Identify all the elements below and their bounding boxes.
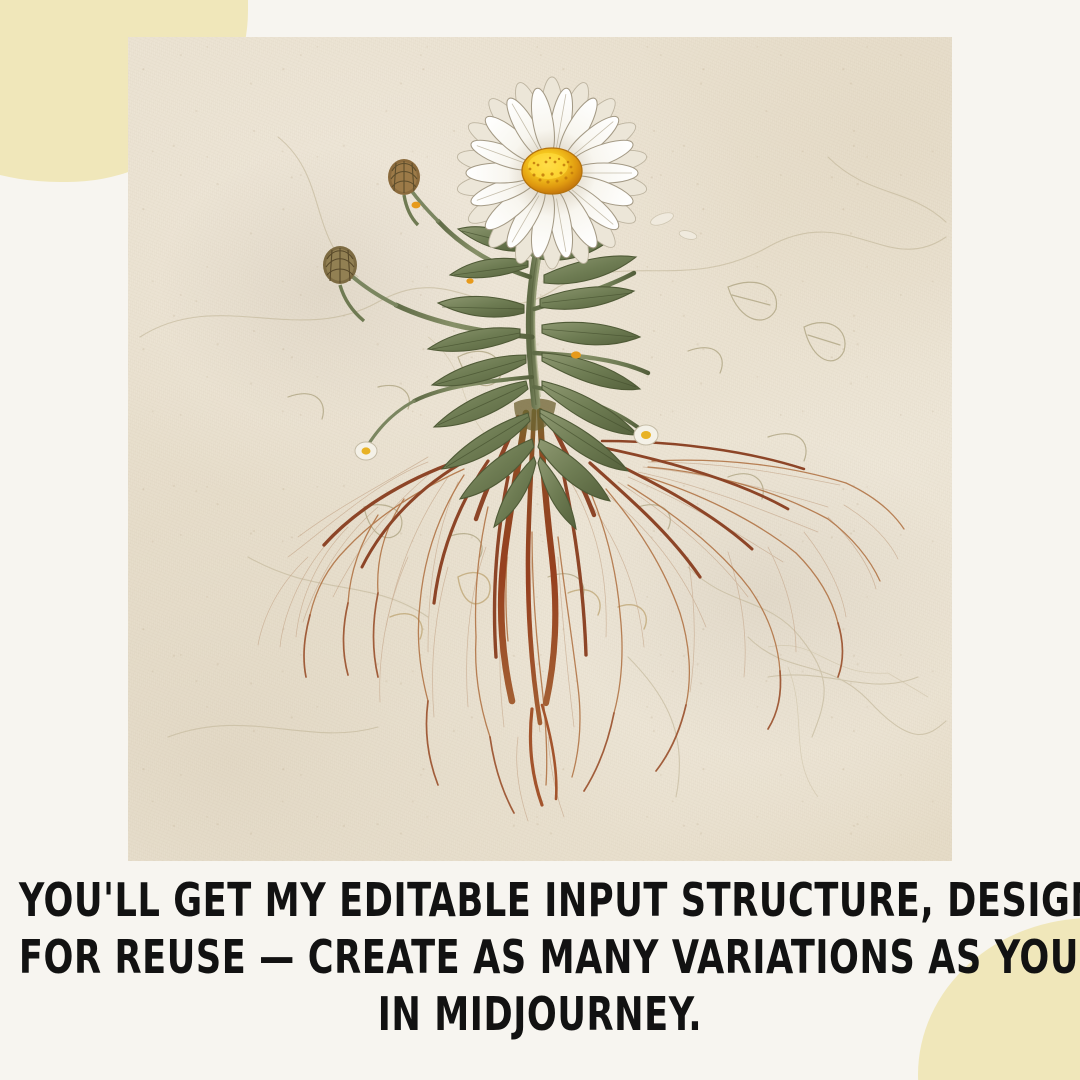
caption-line-1: You'll get my editable input structure, … [19, 868, 1061, 933]
caption-line-2: for reuse — create as many variations as… [19, 925, 1061, 990]
poster-canvas: You'll get my editable input structure, … [0, 0, 1080, 1080]
daisy-plant-illustration [128, 37, 952, 861]
caption-line-3: in Midjourney. [19, 982, 1061, 1047]
botanical-illustration-panel [128, 37, 952, 861]
promo-caption: You'll get my editable input structure, … [0, 868, 1080, 1039]
